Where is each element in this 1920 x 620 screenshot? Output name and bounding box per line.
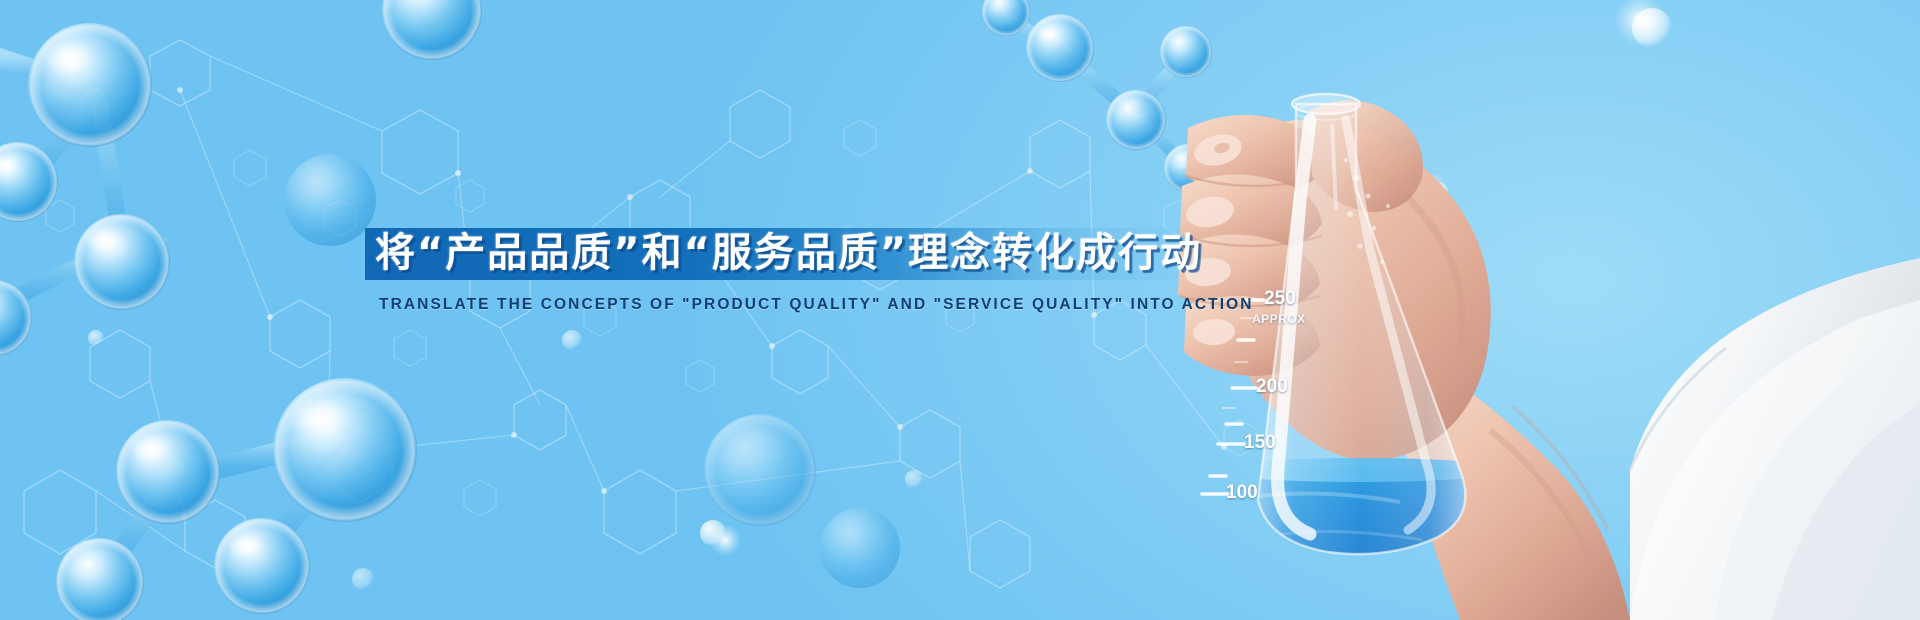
erlenmeyer-flask bbox=[1202, 94, 1510, 580]
lab-coat bbox=[1630, 258, 1920, 620]
banner: 250 APPROX 200 150 100 将“产品品质”和“服务品质”理念转… bbox=[0, 0, 1920, 620]
headline-bar: 将“产品品质”和“服务品质”理念转化成行动 bbox=[365, 228, 1225, 280]
flask-mark-100: 100 bbox=[1226, 482, 1258, 504]
scientist-hand-with-flask-photo: 250 APPROX 200 150 100 bbox=[1160, 0, 1920, 620]
flask-mark-200: 200 bbox=[1256, 376, 1288, 398]
banner-text-block: 将“产品品质”和“服务品质”理念转化成行动 TRANSLATE THE CONC… bbox=[365, 228, 1265, 314]
forearm bbox=[1400, 360, 1630, 620]
flask-mark-approx: APPROX bbox=[1252, 312, 1306, 326]
flask-mark-250: 250 bbox=[1264, 288, 1296, 310]
subtitle-text: TRANSLATE THE CONCEPTS OF "PRODUCT QUALI… bbox=[379, 296, 1265, 314]
flask-mark-150: 150 bbox=[1244, 432, 1276, 454]
headline-text: 将“产品品质”和“服务品质”理念转化成行动 bbox=[375, 220, 1202, 286]
